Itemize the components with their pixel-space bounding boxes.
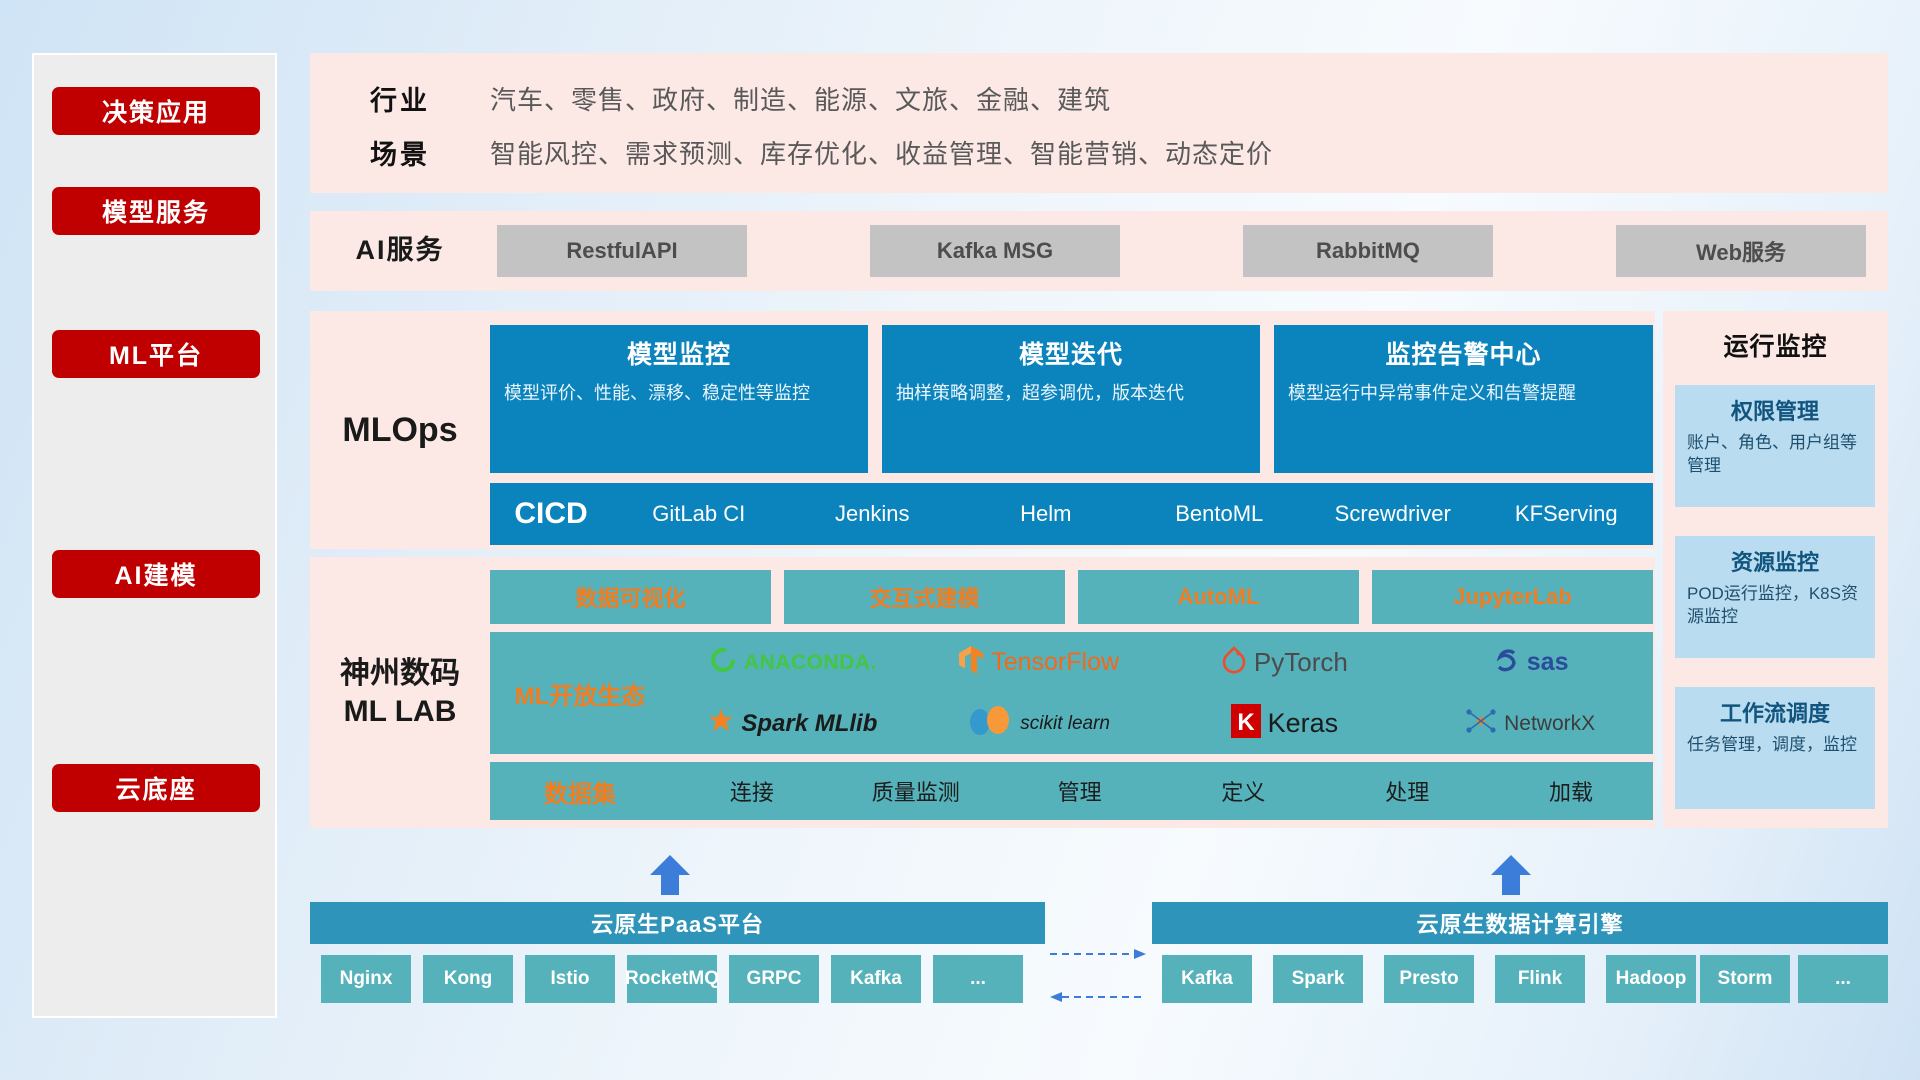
tab-jupyterlab[interactable]: JupyterLab (1372, 570, 1653, 624)
monitor-card-permission[interactable]: 权限管理 账户、角色、用户组等管理 (1675, 385, 1875, 507)
logo-label: Keras (1268, 708, 1339, 739)
chip-grpc[interactable]: GRPC (729, 955, 819, 1003)
industry-row: 行业 汽车、零售、政府、制造、能源、文旅、金融、建筑 (310, 75, 1888, 121)
industry-values: 汽车、零售、政府、制造、能源、文旅、金融、建筑 (490, 80, 1111, 117)
logo-anaconda: ANACONDA. (670, 646, 916, 679)
cicd-item-gitlab-ci[interactable]: GitLab CI (612, 503, 786, 525)
dashed-arrow-left (1050, 990, 1146, 1004)
rail-chip-model-service[interactable]: 模型服务 (52, 187, 260, 235)
cicd-item-screwdriver[interactable]: Screwdriver (1306, 503, 1480, 525)
band-industry-scenario: 行业 汽车、零售、政府、制造、能源、文旅、金融、建筑 场景 智能风控、需求预测、… (310, 53, 1888, 193)
card-title: 模型迭代 (896, 335, 1246, 371)
logo-label: NetworkX (1504, 712, 1595, 736)
dataset-item-manage[interactable]: 管理 (998, 775, 1162, 807)
card-title: 监控告警中心 (1288, 335, 1639, 371)
mlops-card-alert-center[interactable]: 监控告警中心 模型运行中异常事件定义和告警提醒 (1274, 325, 1653, 473)
up-arrow-right (1489, 855, 1533, 895)
chip-rocketmq[interactable]: RocketMQ (627, 955, 717, 1003)
pytorch-icon (1221, 646, 1247, 679)
architecture-diagram: 决策应用 模型服务 ML平台 AI建模 云底座 行业 汽车、零售、政府、制造、能… (0, 0, 1920, 1080)
band-ai-service: AI服务 RestfulAPI Kafka MSG RabbitMQ Web服务 (310, 211, 1888, 291)
logo-label: ANACONDA. (744, 651, 877, 675)
card-title: 资源监控 (1687, 545, 1863, 577)
tensorflow-icon (958, 645, 984, 680)
card-desc: 任务管理，调度，监控 (1687, 734, 1863, 757)
chip-istio[interactable]: Istio (525, 955, 615, 1003)
ai-service-label: AI服务 (310, 211, 490, 291)
anaconda-icon (709, 646, 737, 679)
logo-tensorflow: TensorFlow (916, 645, 1162, 680)
card-title: 模型监控 (504, 335, 854, 371)
spark-star-icon (708, 708, 734, 739)
keras-icon: K (1231, 704, 1261, 743)
logo-label: PyTorch (1254, 647, 1348, 678)
ml-lab-label-line2: ML LAB (340, 693, 460, 731)
scenario-row: 场景 智能风控、需求预测、库存优化、收益管理、智能营销、动态定价 (310, 129, 1888, 175)
right-monitoring-rail: 运行监控 权限管理 账户、角色、用户组等管理 资源监控 POD运行监控，K8S资… (1663, 311, 1888, 828)
card-desc: 抽样策略调整，超参调优，版本迭代 (896, 381, 1246, 405)
monitor-card-resource[interactable]: 资源监控 POD运行监控，K8S资源监控 (1675, 536, 1875, 658)
cicd-bar: CICD GitLab CI Jenkins Helm BentoML Scre… (490, 483, 1653, 545)
chip-flink[interactable]: Flink (1495, 955, 1585, 1003)
chip-storm[interactable]: Storm (1700, 955, 1790, 1003)
scenario-values: 智能风控、需求预测、库存优化、收益管理、智能营销、动态定价 (490, 134, 1273, 171)
cicd-item-bentoml[interactable]: BentoML (1133, 503, 1307, 525)
cicd-item-helm[interactable]: Helm (959, 503, 1133, 525)
chip-spark[interactable]: Spark (1273, 955, 1363, 1003)
svg-text:K: K (1237, 709, 1255, 736)
logo-sas: sas (1407, 646, 1653, 679)
rail-chip-cloud-base[interactable]: 云底座 (52, 764, 260, 812)
ml-lab-label: 神州数码 ML LAB (310, 557, 490, 828)
dataset-item-process[interactable]: 处理 (1325, 775, 1489, 807)
card-desc: 模型评价、性能、漂移、稳定性等监控 (504, 381, 854, 405)
tab-interactive-modeling[interactable]: 交互式建模 (784, 570, 1065, 624)
ml-open-ecosystem-panel: ML开放生态 ANACONDA. TensorFlow (490, 632, 1653, 754)
dataset-item-define[interactable]: 定义 (1161, 775, 1325, 807)
service-box-restfulapi[interactable]: RestfulAPI (497, 225, 747, 277)
card-title: 权限管理 (1687, 394, 1863, 426)
scenario-label: 场景 (310, 133, 490, 172)
card-desc: POD运行监控，K8S资源监控 (1687, 583, 1863, 629)
service-box-rabbitmq[interactable]: RabbitMQ (1243, 225, 1493, 277)
dataset-row: 数据集 连接 质量监测 管理 定义 处理 加载 (490, 762, 1653, 820)
scikit-learn-icon (967, 704, 1013, 743)
mlops-card-model-monitoring[interactable]: 模型监控 模型评价、性能、漂移、稳定性等监控 (490, 325, 868, 473)
logo-label: Spark MLlib (741, 710, 877, 738)
cicd-item-jenkins[interactable]: Jenkins (786, 503, 960, 525)
logo-label: TensorFlow (991, 648, 1119, 677)
chip-more-left[interactable]: ... (933, 955, 1023, 1003)
service-box-web-service[interactable]: Web服务 (1616, 225, 1866, 277)
card-desc: 模型运行中异常事件定义和告警提醒 (1288, 381, 1639, 405)
mlops-label: MLOps (310, 311, 490, 549)
chip-nginx[interactable]: Nginx (321, 955, 411, 1003)
chip-kafka-left[interactable]: Kafka (831, 955, 921, 1003)
cloud-bar-data-compute: 云原生数据计算引擎 (1152, 902, 1888, 944)
logo-grid: ANACONDA. TensorFlow PyTorch (670, 632, 1653, 754)
logo-keras: K Keras (1162, 704, 1408, 743)
ml-open-ecosystem-label: ML开放生态 (490, 676, 670, 711)
dataset-item-load[interactable]: 加载 (1489, 775, 1653, 807)
dataset-item-connect[interactable]: 连接 (670, 775, 834, 807)
logo-spark-mllib: Spark MLlib (670, 708, 916, 739)
industry-label: 行业 (310, 79, 490, 118)
cloud-bar-paas: 云原生PaaS平台 (310, 902, 1045, 944)
logo-scikit-learn: scikit learn (916, 704, 1162, 743)
left-layer-rail: 决策应用 模型服务 ML平台 AI建模 云底座 (32, 53, 277, 1018)
chip-presto[interactable]: Presto (1384, 955, 1474, 1003)
up-arrow-left (648, 855, 692, 895)
chip-kong[interactable]: Kong (423, 955, 513, 1003)
chip-hadoop[interactable]: Hadoop (1606, 955, 1696, 1003)
chip-more-right[interactable]: ... (1798, 955, 1888, 1003)
ml-lab-tab-row: 数据可视化 交互式建模 AutoML JupyterLab (490, 570, 1653, 624)
chip-kafka-right[interactable]: Kafka (1162, 955, 1252, 1003)
tab-data-visualization[interactable]: 数据可视化 (490, 570, 771, 624)
monitor-card-workflow[interactable]: 工作流调度 任务管理，调度，监控 (1675, 687, 1875, 809)
card-title: 工作流调度 (1687, 696, 1863, 728)
rail-chip-decision-app[interactable]: 决策应用 (52, 87, 260, 135)
cicd-item-kfserving[interactable]: KFServing (1480, 503, 1654, 525)
dataset-title: 数据集 (490, 774, 670, 809)
card-desc: 账户、角色、用户组等管理 (1687, 432, 1863, 478)
networkx-icon (1465, 706, 1497, 741)
rail-chip-ml-platform[interactable]: ML平台 (52, 330, 260, 378)
logo-networkx: NetworkX (1407, 706, 1653, 741)
logo-label: scikit learn (1020, 713, 1110, 735)
logo-label: sas (1527, 648, 1569, 677)
service-box-kafka-msg[interactable]: Kafka MSG (870, 225, 1120, 277)
tab-automl[interactable]: AutoML (1078, 570, 1359, 624)
dataset-item-quality-monitor[interactable]: 质量监测 (834, 775, 998, 807)
dashed-arrow-right (1050, 947, 1146, 961)
ml-lab-label-line1: 神州数码 (340, 655, 460, 693)
sas-icon (1492, 646, 1520, 679)
cicd-title: CICD (490, 497, 612, 531)
band-mlops: MLOps 模型监控 模型评价、性能、漂移、稳定性等监控 模型迭代 抽样策略调整… (310, 311, 1655, 549)
band-ml-lab: 神州数码 ML LAB 数据可视化 交互式建模 AutoML JupyterLa… (310, 557, 1655, 828)
mlops-card-model-iteration[interactable]: 模型迭代 抽样策略调整，超参调优，版本迭代 (882, 325, 1260, 473)
run-monitoring-title: 运行监控 (1663, 311, 1888, 363)
rail-chip-ai-modeling[interactable]: AI建模 (52, 550, 260, 598)
logo-pytorch: PyTorch (1162, 646, 1408, 679)
